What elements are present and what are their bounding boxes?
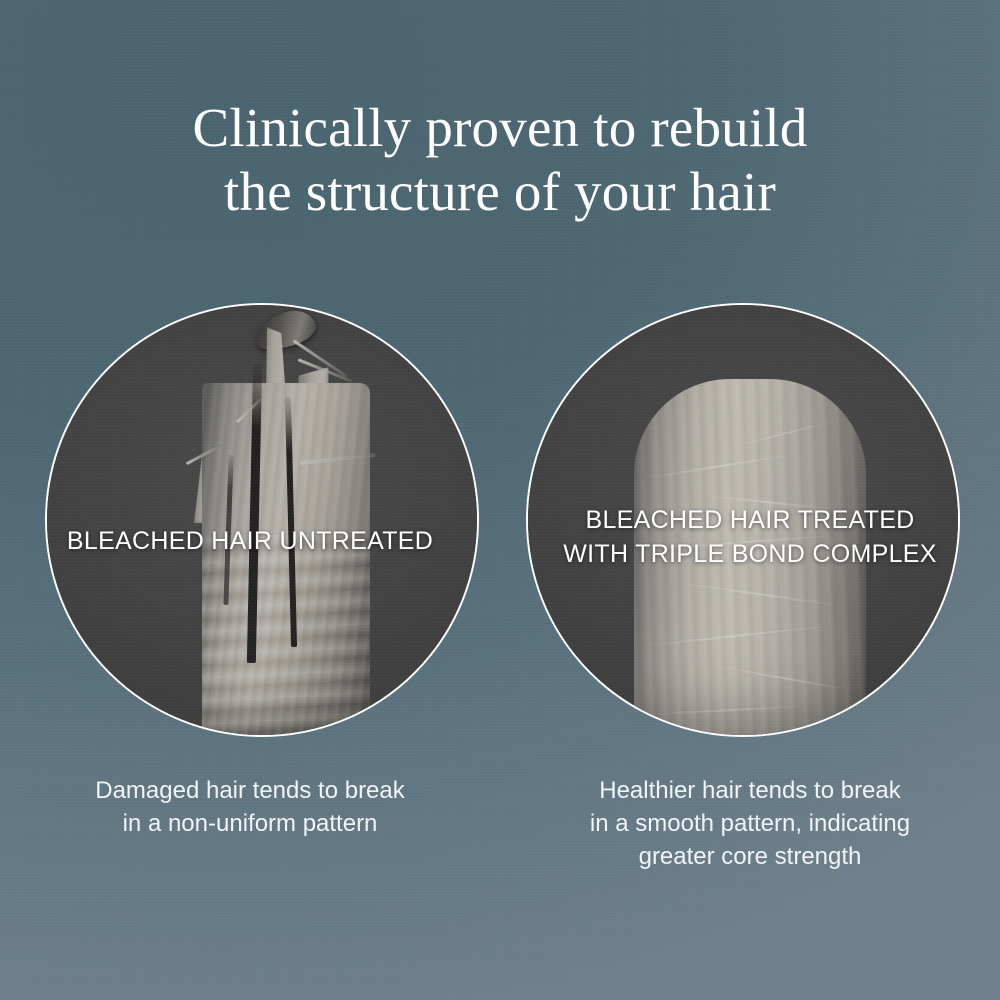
circle-label-treated-line-1: BLEACHED HAIR TREATED <box>500 503 1000 537</box>
caption-untreated-line-1: Damaged hair tends to break <box>0 774 500 807</box>
circle-label-treated-line-2: WITH TRIPLE BOND COMPLEX <box>500 537 1000 571</box>
comparison-panels: BLEACHED HAIR UNTREATED Damaged hair ten… <box>0 0 1000 1000</box>
panel-treated: BLEACHED HAIR TREATED WITH TRIPLE BOND C… <box>500 0 1000 1000</box>
panel-untreated: BLEACHED HAIR UNTREATED Damaged hair ten… <box>0 0 500 1000</box>
caption-untreated: Damaged hair tends to break in a non-uni… <box>0 774 500 840</box>
circle-image-untreated <box>45 303 479 737</box>
caption-treated-line-3: greater core strength <box>500 840 1000 873</box>
promotional-hair-science-poster: Clinically proven to rebuild the structu… <box>0 0 1000 1000</box>
circle-label-untreated-line-1: BLEACHED HAIR UNTREATED <box>0 524 500 558</box>
sem-micrograph-damaged-hair-icon <box>47 305 477 735</box>
caption-treated-line-2: in a smooth pattern, indicating <box>500 807 1000 840</box>
caption-untreated-line-2: in a non-uniform pattern <box>0 807 500 840</box>
caption-treated: Healthier hair tends to break in a smoot… <box>500 774 1000 873</box>
circle-label-untreated: BLEACHED HAIR UNTREATED <box>0 524 500 558</box>
caption-treated-line-1: Healthier hair tends to break <box>500 774 1000 807</box>
circle-label-treated: BLEACHED HAIR TREATED WITH TRIPLE BOND C… <box>500 503 1000 571</box>
